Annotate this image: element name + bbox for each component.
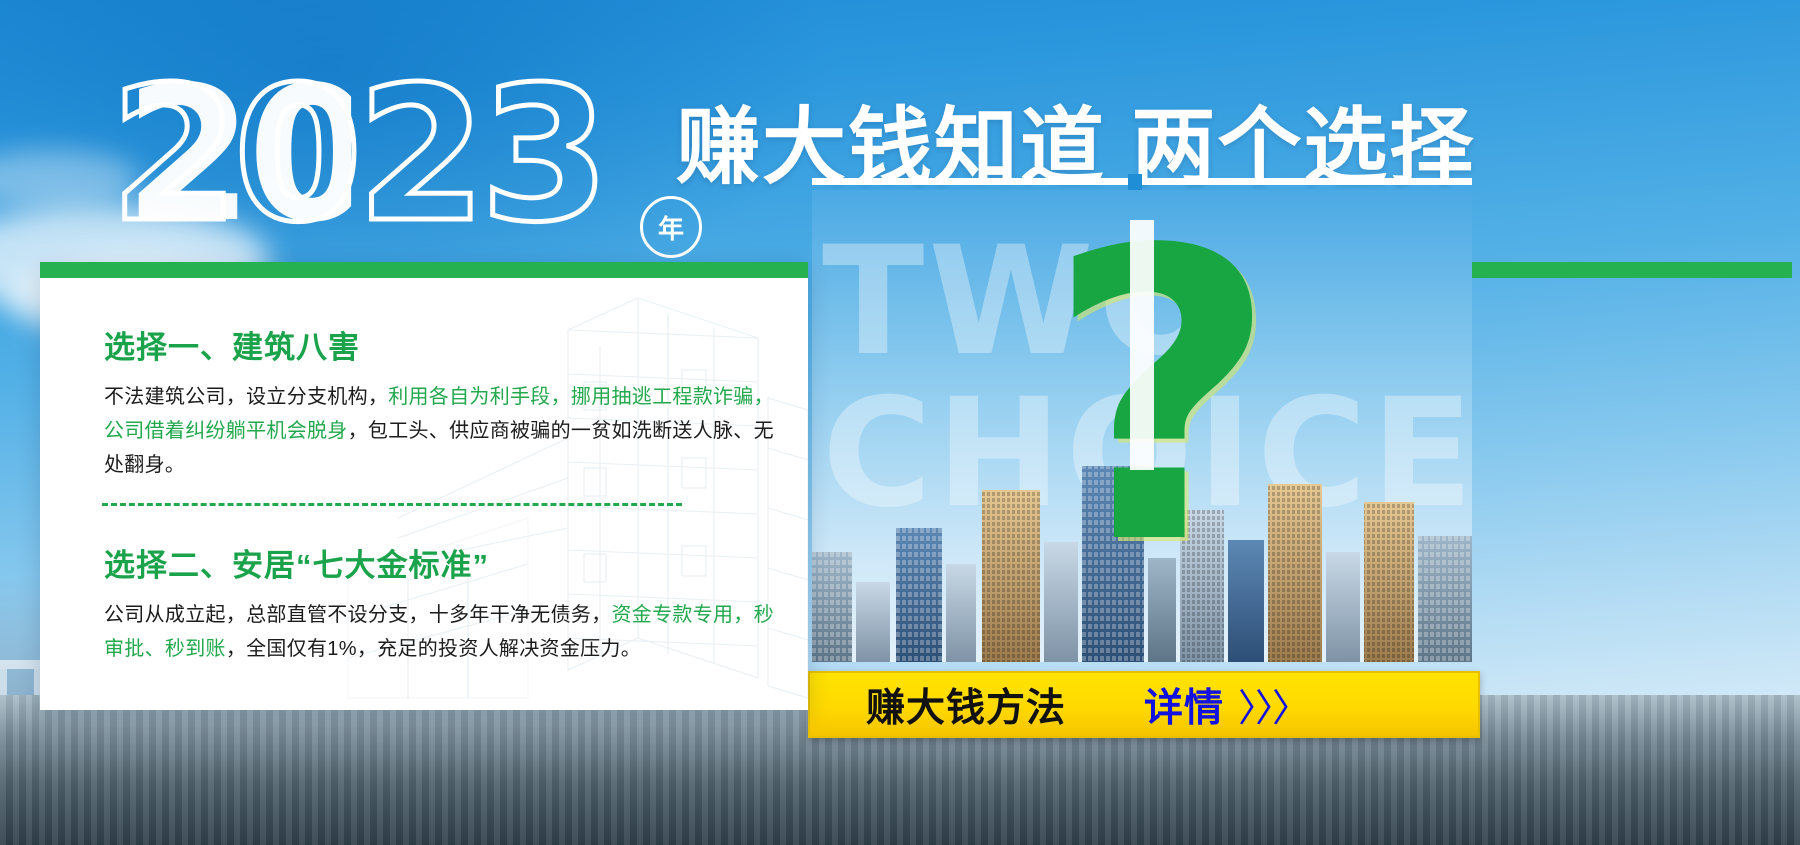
question-mark-icon: ?: [1046, 200, 1278, 600]
green-accent-bar: [1472, 262, 1792, 278]
headline-rule: [812, 178, 1472, 185]
content-card: 选择一、建筑八害 不法建筑公司，设立分支机构，利用各自为利手段，挪用抽逃工程款诈…: [40, 262, 808, 710]
text-run-black: ，全国仅有1%，充足的投资人解决资金压力。: [226, 638, 641, 660]
headline-rule-gap: [1128, 174, 1142, 190]
question-mark-notch: [1130, 220, 1154, 470]
section-one-paragraph: 不法建筑公司，设立分支机构，利用各自为利手段，挪用抽逃工程款诈骗，公司借着纠纷躺…: [104, 380, 776, 482]
section-divider: [102, 503, 682, 506]
banner-stage: 2023 2023 年 赚大钱知道 两个选择 TWO CHOICES: [0, 0, 1800, 845]
cta-main-label: 赚大钱方法: [866, 677, 1066, 733]
card-top-accent-bar: [40, 262, 808, 278]
year-unit-badge: 年: [640, 196, 702, 258]
section-one-title: 选择一、建筑八害: [104, 322, 360, 367]
card-body: 选择一、建筑八害 不法建筑公司，设立分支机构，利用各自为利手段，挪用抽逃工程款诈…: [40, 278, 808, 710]
section-two-title: 选择二、安居“七大金标准”: [104, 540, 489, 585]
section-two-paragraph: 公司从成立起，总部直管不设分支，十多年干净无债务，资金专款专用，秒审批、秒到账，…: [104, 598, 776, 666]
text-run-black: 不法建筑公司，设立分支机构，: [104, 386, 388, 408]
cta-detail-link[interactable]: 详情: [1144, 677, 1224, 733]
right-visual-panel: TWO CHOICES: [812, 190, 1472, 662]
chevron-right-icon: 〉〉〉: [1238, 677, 1308, 732]
cta-banner[interactable]: 赚大钱方法 详情 〉〉〉: [808, 671, 1480, 738]
text-run-black: 公司从成立起，总部直管不设分支，十多年干净无债务，: [104, 604, 612, 626]
